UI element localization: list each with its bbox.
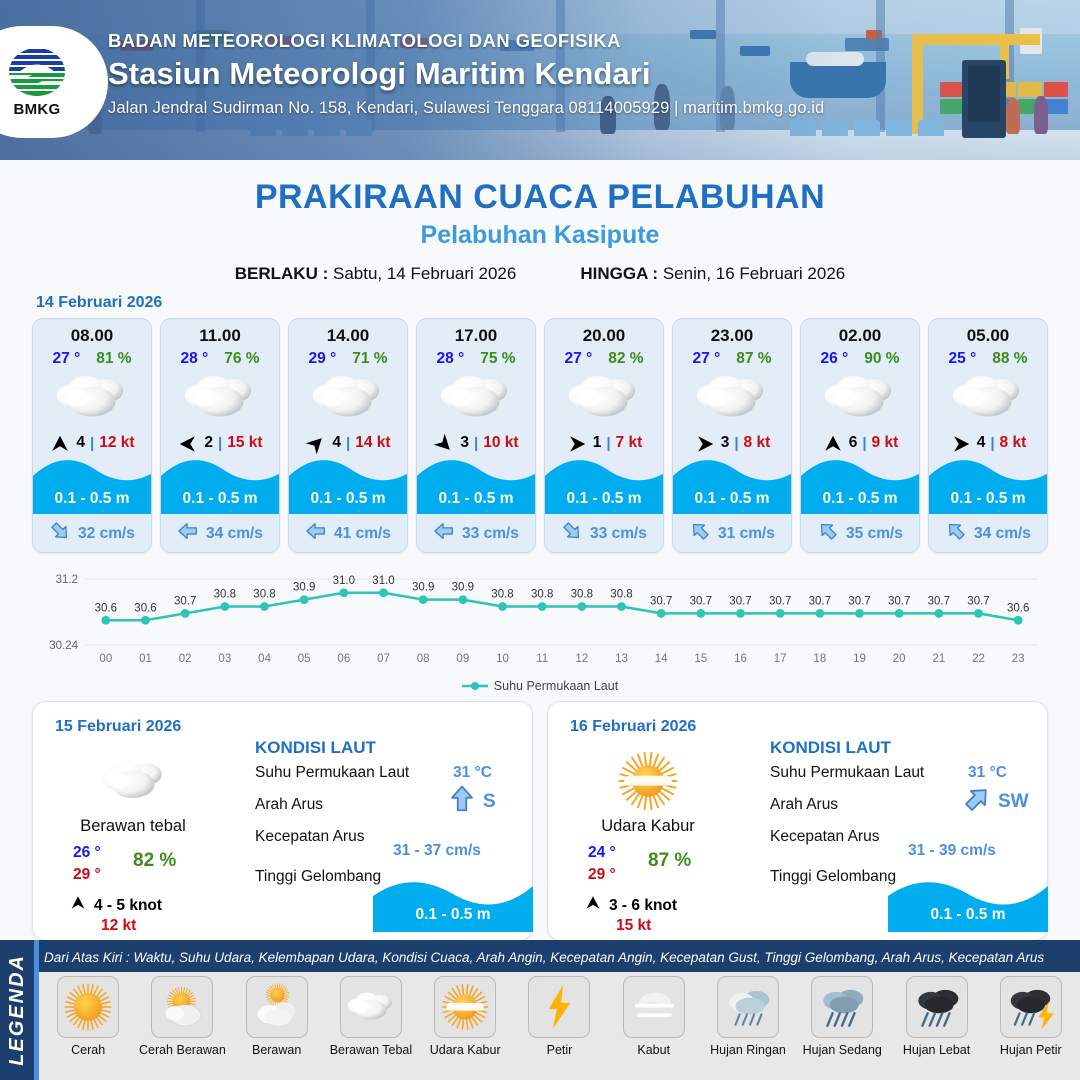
wind-direction-icon <box>69 894 87 912</box>
weather-icon-berawan <box>251 981 303 1033</box>
card-wind-row: 4 | 14 kt <box>289 433 407 453</box>
hourly-forecast-strip: 08.00 27 ° 81 % 4 | 12 k <box>0 318 1080 553</box>
svg-text:11: 11 <box>536 653 548 665</box>
card-wind-speed: 6 <box>849 434 858 452</box>
legend-item: Cerah <box>41 976 135 1080</box>
card-current-row: 34 cm/s <box>161 520 279 547</box>
svg-text:30.7: 30.7 <box>848 595 870 607</box>
svg-text:30.7: 30.7 <box>809 595 831 607</box>
hourly-card: 23.00 27 ° 87 % 3 | 8 kt <box>672 318 792 553</box>
weather-icon-berawan-tebal <box>53 372 131 423</box>
sea-row-label-current-dir: Arah Arus <box>255 796 323 814</box>
svg-text:30.8: 30.8 <box>571 589 593 601</box>
card-humidity: 87 % <box>736 350 771 368</box>
legend-item-label: Hujan Sedang <box>803 1043 882 1057</box>
wind-direction-icon <box>305 433 327 455</box>
card-humidity: 81 % <box>96 350 131 368</box>
card-current-speed: 34 cm/s <box>206 525 263 543</box>
card-current-row: 31 cm/s <box>673 520 791 547</box>
validity-row: BERLAKU : Sabtu, 14 Februari 2026 HINGGA… <box>0 264 1080 284</box>
svg-text:22: 22 <box>972 653 985 665</box>
legend-item: Cerah Berawan <box>135 976 229 1080</box>
bmkg-logo-text: BMKG <box>13 101 60 118</box>
svg-text:31.0: 31.0 <box>333 575 355 587</box>
card-gust: 12 kt <box>99 434 134 452</box>
wind-direction-icon <box>822 433 844 455</box>
card-values: 29 ° 71 % <box>289 350 407 368</box>
daily-forecast-panels: 15 Februari 2026 Berawan tebal 26 ° 29 °… <box>0 701 1080 941</box>
weather-icon-cerah-berawan <box>156 981 208 1033</box>
card-time: 20.00 <box>545 326 663 346</box>
card-separator: | <box>90 435 94 452</box>
daily-humidity: 82 % <box>133 850 176 872</box>
svg-text:30.7: 30.7 <box>888 595 910 607</box>
daily-wind-direction <box>69 894 87 917</box>
card-humidity: 76 % <box>224 350 259 368</box>
legend-item-label: Cerah Berawan <box>139 1043 226 1057</box>
svg-text:23: 23 <box>1012 653 1025 665</box>
card-current-direction <box>817 520 839 547</box>
card-wind-speed: 4 <box>977 434 986 452</box>
hourly-card: 08.00 27 ° 81 % 4 | 12 k <box>32 318 152 553</box>
sea-row-label-sst: Suhu Permukaan Laut <box>770 764 924 782</box>
card-humidity: 75 % <box>480 350 515 368</box>
card-current-direction <box>945 520 967 547</box>
legend-icon-panel: Cerah Cerah Berawan Berawan <box>39 972 1080 1080</box>
svg-text:07: 07 <box>377 653 390 665</box>
card-time: 11.00 <box>161 326 279 346</box>
card-wave-height: 0.1 - 0.5 m <box>801 490 919 508</box>
station-address: Jalan Jendral Sudirman No. 158, Kendari,… <box>108 99 824 118</box>
weather-icon-berawan-tebal <box>345 990 397 1024</box>
card-values: 27 ° 82 % <box>545 350 663 368</box>
card-current-speed: 41 cm/s <box>334 525 391 543</box>
daily-wind-row: 3 - 6 knot <box>584 894 677 917</box>
card-separator: | <box>474 435 478 452</box>
daily-humidity: 87 % <box>648 850 691 872</box>
card-wind-speed: 2 <box>204 434 213 452</box>
card-wind-direction <box>305 433 327 453</box>
svg-text:15: 15 <box>694 653 707 665</box>
card-wind-speed: 3 <box>721 434 730 452</box>
svg-text:31.2: 31.2 <box>56 574 78 586</box>
daily-panel: 16 Februari 2026 Udara Kabur 24 ° 29 ° 8… <box>547 701 1048 941</box>
svg-text:14: 14 <box>655 653 668 665</box>
weather-icon-berawan-tebal <box>821 372 899 423</box>
sea-current-direction-icon <box>962 784 992 819</box>
card-weather-icon <box>801 372 919 424</box>
legend-item-label: Hujan Lebat <box>903 1043 970 1057</box>
card-current-row: 34 cm/s <box>929 520 1047 547</box>
svg-text:30.8: 30.8 <box>531 589 553 601</box>
svg-text:19: 19 <box>853 653 866 665</box>
card-current-direction <box>177 520 199 547</box>
card-current-speed: 33 cm/s <box>462 525 519 543</box>
station-name: Stasiun Meteorologi Maritim Kendari <box>108 56 824 92</box>
title-block: PRAKIRAAN CUACA PELABUHAN Pelabuhan Kasi… <box>0 178 1080 284</box>
card-time: 14.00 <box>289 326 407 346</box>
card-wind-row: 3 | 8 kt <box>673 433 791 453</box>
card-current-speed: 35 cm/s <box>846 525 903 543</box>
svg-text:30.9: 30.9 <box>412 582 434 594</box>
card-current-speed: 33 cm/s <box>590 525 647 543</box>
bmkg-logo-mark <box>6 47 68 99</box>
weather-icon-hujan-ringan <box>722 981 774 1033</box>
card-separator: | <box>606 435 610 452</box>
weather-icon-udara-kabur <box>439 981 491 1033</box>
legend-item: Hujan Petir <box>984 976 1078 1080</box>
daily-condition: Udara Kabur <box>548 817 748 836</box>
sea-value-wave: 0.1 - 0.5 m <box>888 906 1048 924</box>
wind-direction-icon <box>49 433 71 455</box>
card-current-row: 35 cm/s <box>801 520 919 547</box>
card-current-direction <box>433 520 455 547</box>
current-direction-icon <box>433 520 455 542</box>
hourly-card: 14.00 29 ° 71 % 4 | 14 k <box>288 318 408 553</box>
card-wind-row: 4 | 8 kt <box>929 433 1047 453</box>
daily-wind-direction <box>584 894 602 917</box>
weather-icon-berawan-tebal <box>309 372 387 423</box>
weather-icon-hujan-lebat <box>911 981 963 1033</box>
sst-chart: 31.230.2430.60030.60130.70230.80330.8043… <box>28 565 1052 675</box>
card-wave-height: 0.1 - 0.5 m <box>161 490 279 508</box>
weather-icon-berawan-tebal <box>97 757 169 805</box>
current-direction-icon <box>689 520 711 542</box>
card-current-direction <box>49 520 71 547</box>
hourly-date-label: 14 Februari 2026 <box>36 294 1080 312</box>
daily-gust: 12 kt <box>101 917 136 935</box>
card-time: 17.00 <box>417 326 535 346</box>
card-gust: 15 kt <box>227 434 262 452</box>
card-wind-row: 1 | 7 kt <box>545 433 663 453</box>
card-time: 23.00 <box>673 326 791 346</box>
sea-value-current-dir-group: S <box>447 784 496 819</box>
sea-row-label-current-dir: Arah Arus <box>770 796 838 814</box>
svg-text:30.8: 30.8 <box>253 589 275 601</box>
sea-condition-title: KONDISI LAUT <box>255 738 376 758</box>
wind-direction-icon <box>177 433 199 455</box>
svg-text:01: 01 <box>139 653 152 665</box>
cerah-berawan-icon <box>151 976 213 1038</box>
svg-text:18: 18 <box>813 653 826 665</box>
wind-direction-icon <box>433 433 455 455</box>
card-current-direction <box>305 520 327 547</box>
svg-text:30.7: 30.7 <box>174 595 196 607</box>
weather-icon-berawan-tebal <box>437 372 515 423</box>
svg-text:30.24: 30.24 <box>49 640 78 652</box>
daily-temp-min: 26 ° <box>73 844 101 862</box>
sea-current-direction-icon <box>447 784 477 819</box>
hingga-group: HINGGA : Senin, 16 Februari 2026 <box>580 264 845 284</box>
berlaku-value: Sabtu, 14 Februari 2026 <box>333 264 516 283</box>
card-wind-speed: 3 <box>460 434 469 452</box>
svg-text:30.7: 30.7 <box>729 595 751 607</box>
weather-icon-hujan-sedang <box>816 981 868 1033</box>
hujan-sedang-icon <box>811 976 873 1038</box>
card-current-row: 41 cm/s <box>289 520 407 547</box>
card-values: 25 ° 88 % <box>929 350 1047 368</box>
card-gust: 8 kt <box>744 434 771 452</box>
port-name: Pelabuhan Kasipute <box>0 221 1080 250</box>
card-temperature: 26 ° <box>820 350 848 368</box>
svg-text:12: 12 <box>575 653 588 665</box>
daily-temp-max: 29 ° <box>588 866 616 884</box>
card-wave-height: 0.1 - 0.5 m <box>929 490 1047 508</box>
card-wind-speed: 1 <box>593 434 602 452</box>
legend-item: Berawan <box>230 976 324 1080</box>
card-wind-row: 3 | 10 kt <box>417 433 535 453</box>
card-gust: 10 kt <box>483 434 518 452</box>
svg-text:03: 03 <box>218 653 231 665</box>
card-current-speed: 31 cm/s <box>718 525 775 543</box>
card-gust: 14 kt <box>355 434 390 452</box>
berlaku-group: BERLAKU : Sabtu, 14 Februari 2026 <box>235 264 517 284</box>
legend-item-label: Cerah <box>71 1043 105 1057</box>
weather-icon-cerah <box>62 981 114 1033</box>
card-separator: | <box>218 435 222 452</box>
daily-date: 16 Februari 2026 <box>570 718 696 736</box>
berlaku-label: BERLAKU : <box>235 264 329 283</box>
hujan-lebat-icon <box>906 976 968 1038</box>
hujan-ringan-icon <box>717 976 779 1038</box>
card-current-speed: 34 cm/s <box>974 525 1031 543</box>
card-current-direction <box>689 520 711 547</box>
legend-item: Hujan Lebat <box>889 976 983 1080</box>
legend-marker-icon <box>462 681 488 691</box>
svg-text:30.6: 30.6 <box>95 602 117 614</box>
card-time: 05.00 <box>929 326 1047 346</box>
daily-weather-icon <box>93 750 173 812</box>
current-direction-icon <box>49 520 71 542</box>
card-values: 27 ° 81 % <box>33 350 151 368</box>
card-wind-row: 6 | 9 kt <box>801 433 919 453</box>
sea-wave-chip: 0.1 - 0.5 m <box>373 874 533 932</box>
legend-item: Hujan Ringan <box>701 976 795 1080</box>
card-current-row: 32 cm/s <box>33 520 151 547</box>
svg-text:05: 05 <box>298 653 311 665</box>
chart-legend: Suhu Permukaan Laut <box>0 679 1080 693</box>
udara-kabur-icon <box>434 976 496 1038</box>
svg-text:30.7: 30.7 <box>769 595 791 607</box>
svg-text:30.9: 30.9 <box>293 582 315 594</box>
sea-value-current-speed: 31 - 39 cm/s <box>908 842 996 860</box>
svg-text:16: 16 <box>734 653 747 665</box>
svg-text:30.6: 30.6 <box>134 602 156 614</box>
chart-legend-label: Suhu Permukaan Laut <box>494 679 618 693</box>
card-humidity: 82 % <box>608 350 643 368</box>
svg-text:30.9: 30.9 <box>452 582 474 594</box>
wind-direction-icon <box>584 894 602 912</box>
svg-text:30.7: 30.7 <box>967 595 989 607</box>
hourly-card: 17.00 28 ° 75 % 3 | 10 k <box>416 318 536 553</box>
page-title: PRAKIRAAN CUACA PELABUHAN <box>0 178 1080 217</box>
card-temperature: 25 ° <box>948 350 976 368</box>
card-current-speed: 32 cm/s <box>78 525 135 543</box>
card-temperature: 27 ° <box>52 350 80 368</box>
card-weather-icon <box>673 372 791 424</box>
card-wind-direction <box>694 433 716 453</box>
header-text-block: BADAN METEOROLOGI KLIMATOLOGI DAN GEOFIS… <box>108 30 824 118</box>
hingga-value: Senin, 16 Februari 2026 <box>663 264 845 283</box>
current-direction-icon <box>817 520 839 542</box>
card-gust: 9 kt <box>872 434 899 452</box>
wind-direction-icon <box>950 433 972 455</box>
card-weather-icon <box>289 372 407 424</box>
daily-temp-max: 29 ° <box>73 866 101 884</box>
card-weather-icon <box>929 372 1047 424</box>
hourly-card: 02.00 26 ° 90 % 6 | 9 kt <box>800 318 920 553</box>
card-wind-direction <box>950 433 972 453</box>
card-temperature: 29 ° <box>308 350 336 368</box>
card-separator: | <box>346 435 350 452</box>
current-direction-icon <box>962 784 992 814</box>
sea-row-label-wave: Tinggi Gelombang <box>255 868 381 886</box>
current-direction-icon <box>447 784 477 814</box>
card-wind-direction <box>566 433 588 453</box>
card-humidity: 71 % <box>352 350 387 368</box>
bmkg-logo: BMKG <box>0 26 108 138</box>
card-gust: 7 kt <box>616 434 643 452</box>
card-wave-height: 0.1 - 0.5 m <box>673 490 791 508</box>
current-direction-icon <box>561 520 583 542</box>
sea-condition-title: KONDISI LAUT <box>770 738 891 758</box>
weather-icon-berawan-tebal <box>565 372 643 423</box>
sea-wave-chip: 0.1 - 0.5 m <box>888 874 1048 932</box>
weather-icon-hujan-petir <box>1005 981 1057 1033</box>
svg-text:30.8: 30.8 <box>610 589 632 601</box>
svg-text:30.6: 30.6 <box>1007 602 1029 614</box>
daily-panel: 15 Februari 2026 Berawan tebal 26 ° 29 °… <box>32 701 533 941</box>
legend-item: Hujan Sedang <box>795 976 889 1080</box>
sea-value-sst: 31 °C <box>453 764 492 782</box>
card-temperature: 28 ° <box>180 350 208 368</box>
svg-text:30.7: 30.7 <box>690 595 712 607</box>
svg-text:31.0: 31.0 <box>372 575 394 587</box>
current-direction-icon <box>945 520 967 542</box>
svg-text:13: 13 <box>615 653 628 665</box>
sea-value-current-dir: SW <box>998 791 1029 813</box>
legend-item: Berawan Tebal <box>324 976 418 1080</box>
page-header: BMKG BADAN METEOROLOGI KLIMATOLOGI DAN G… <box>0 0 1080 160</box>
card-separator: | <box>862 435 866 452</box>
svg-text:00: 00 <box>99 653 112 665</box>
sea-value-current-dir: S <box>483 791 496 813</box>
cerah-icon <box>57 976 119 1038</box>
svg-text:04: 04 <box>258 653 271 665</box>
legend-item-label: Hujan Ringan <box>710 1043 786 1057</box>
legend-note: Dari Atas Kiri : Waktu, Suhu Udara, Kele… <box>44 950 1044 965</box>
svg-text:08: 08 <box>417 653 430 665</box>
hourly-card: 20.00 27 ° 82 % 1 | 7 kt <box>544 318 664 553</box>
legend-item: Kabut <box>607 976 701 1080</box>
legend-item-label: Udara Kabur <box>430 1043 501 1057</box>
current-direction-icon <box>305 520 327 542</box>
sea-value-sst: 31 °C <box>968 764 1007 782</box>
legend-item-label: Hujan Petir <box>1000 1043 1062 1057</box>
daily-date: 15 Februari 2026 <box>55 718 181 736</box>
sea-value-current-speed: 31 - 37 cm/s <box>393 842 481 860</box>
card-gust: 8 kt <box>1000 434 1027 452</box>
card-weather-icon <box>33 372 151 424</box>
card-wind-direction <box>177 433 199 453</box>
card-wave-height: 0.1 - 0.5 m <box>33 490 151 508</box>
card-wave-height: 0.1 - 0.5 m <box>289 490 407 508</box>
legend-item: Udara Kabur <box>418 976 512 1080</box>
card-weather-icon <box>161 372 279 424</box>
hourly-card: 11.00 28 ° 76 % 2 | 15 k <box>160 318 280 553</box>
berawan-icon <box>246 976 308 1038</box>
svg-text:10: 10 <box>496 653 509 665</box>
hujan-petir-icon <box>1000 976 1062 1038</box>
legend-bar: LEGENDA Dari Atas Kiri : Waktu, Suhu Uda… <box>0 940 1080 1080</box>
svg-text:17: 17 <box>774 653 787 665</box>
daily-condition: Berawan tebal <box>33 817 233 836</box>
kabut-icon <box>623 976 685 1038</box>
card-wind-speed: 4 <box>76 434 85 452</box>
card-wind-direction <box>822 433 844 453</box>
sea-value-current-dir-group: SW <box>962 784 1029 819</box>
card-values: 28 ° 76 % <box>161 350 279 368</box>
legend-item-label: Petir <box>547 1043 573 1057</box>
card-temperature: 27 ° <box>564 350 592 368</box>
card-wind-row: 2 | 15 kt <box>161 433 279 453</box>
daily-wind-range: 3 - 6 knot <box>609 897 677 915</box>
daily-gust: 15 kt <box>616 917 651 935</box>
card-current-direction <box>561 520 583 547</box>
card-weather-icon <box>417 372 535 424</box>
svg-text:06: 06 <box>337 653 350 665</box>
card-temperature: 27 ° <box>692 350 720 368</box>
sea-row-label-current-speed: Kecepatan Arus <box>255 828 364 846</box>
weather-icon-udara-kabur <box>615 748 681 814</box>
legend-item-label: Berawan <box>252 1043 301 1057</box>
sea-value-wave: 0.1 - 0.5 m <box>373 906 533 924</box>
card-wave-height: 0.1 - 0.5 m <box>417 490 535 508</box>
hingga-label: HINGGA : <box>580 264 658 283</box>
agency-name: BADAN METEOROLOGI KLIMATOLOGI DAN GEOFIS… <box>108 30 824 52</box>
card-wind-row: 4 | 12 kt <box>33 433 151 453</box>
card-values: 27 ° 87 % <box>673 350 791 368</box>
sea-row-label-wave: Tinggi Gelombang <box>770 868 896 886</box>
svg-text:21: 21 <box>932 653 945 665</box>
weather-icon-berawan-tebal <box>693 372 771 423</box>
svg-text:20: 20 <box>893 653 906 665</box>
card-time: 08.00 <box>33 326 151 346</box>
card-wind-direction <box>49 433 71 453</box>
svg-text:02: 02 <box>179 653 192 665</box>
legend-item: Petir <box>512 976 606 1080</box>
wind-direction-icon <box>566 433 588 455</box>
wind-direction-icon <box>694 433 716 455</box>
current-direction-icon <box>177 520 199 542</box>
card-wind-speed: 4 <box>332 434 341 452</box>
legend-item-label: Berawan Tebal <box>330 1043 412 1057</box>
card-wind-direction <box>433 433 455 453</box>
sea-row-label-current-speed: Kecepatan Arus <box>770 828 879 846</box>
hourly-card: 05.00 25 ° 88 % 4 | 8 kt <box>928 318 1048 553</box>
card-wave-height: 0.1 - 0.5 m <box>545 490 663 508</box>
card-weather-icon <box>545 372 663 424</box>
daily-weather-icon <box>608 750 688 812</box>
card-humidity: 90 % <box>864 350 899 368</box>
card-time: 02.00 <box>801 326 919 346</box>
svg-text:30.8: 30.8 <box>214 589 236 601</box>
berawan-tebal-icon <box>340 976 402 1038</box>
weather-icon-petir <box>533 981 585 1033</box>
svg-text:09: 09 <box>456 653 469 665</box>
legend-side-label: LEGENDA <box>0 940 34 1080</box>
daily-wind-range: 4 - 5 knot <box>94 897 162 915</box>
